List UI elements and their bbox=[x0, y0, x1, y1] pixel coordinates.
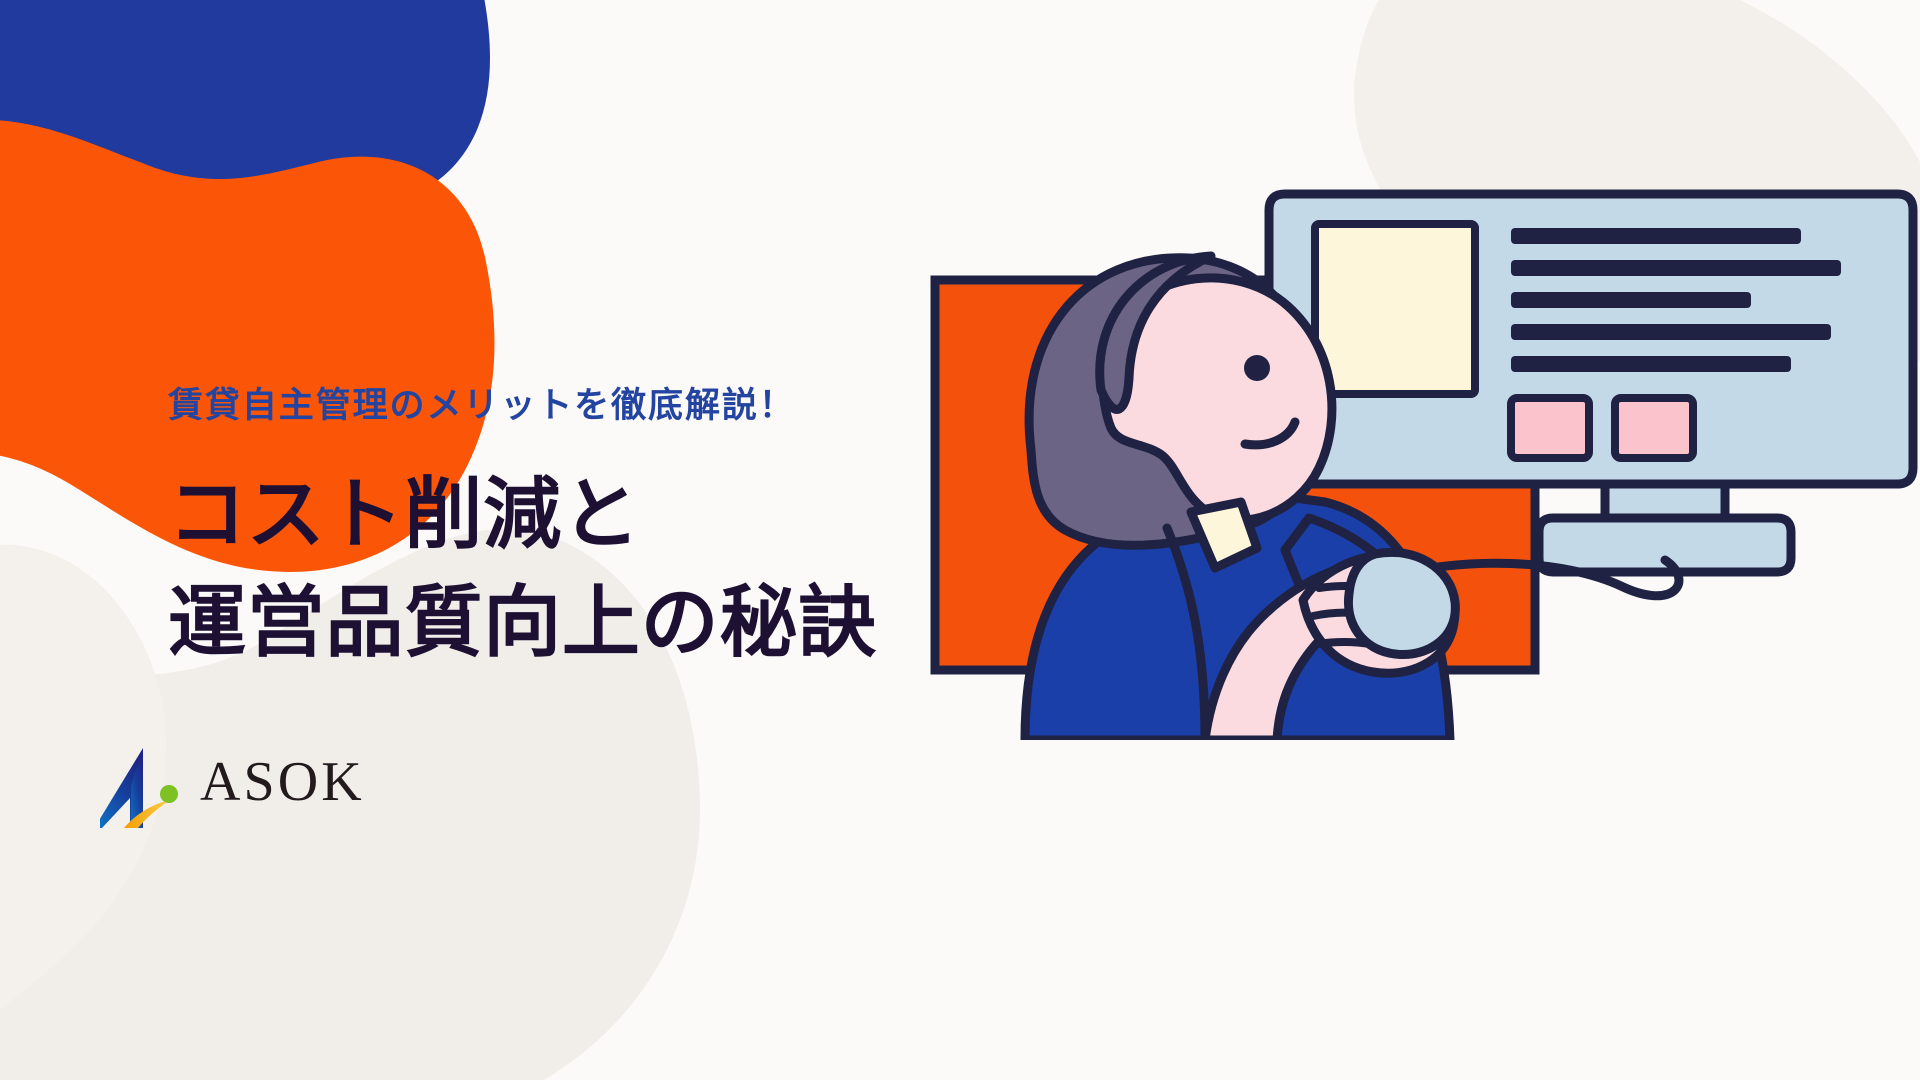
monitor-tile-2 bbox=[1615, 398, 1693, 458]
woman-at-computer-illustration bbox=[905, 150, 1920, 740]
monitor-screen bbox=[1315, 224, 1475, 394]
hero-eyebrow: 賃貸自主管理のメリットを徹底解説！ bbox=[168, 385, 998, 427]
hero-headline: コスト削減と 運営品質向上の秘訣 bbox=[168, 461, 998, 676]
asok-logo-mark bbox=[100, 742, 196, 828]
asok-wordmark: ASOK bbox=[200, 754, 365, 816]
asok-logo[interactable]: ASOK bbox=[100, 742, 365, 828]
hero-headline-line-1: コスト削減と bbox=[168, 461, 998, 569]
hero-banner: 賃貸自主管理のメリットを徹底解説！ コスト削減と 運営品質向上の秘訣 bbox=[0, 0, 1920, 1080]
monitor-tile-1 bbox=[1511, 398, 1589, 458]
hero-copy: 賃貸自主管理のメリットを徹底解説！ コスト削減と 運営品質向上の秘訣 bbox=[168, 385, 998, 676]
hero-headline-line-2: 運営品質向上の秘訣 bbox=[168, 569, 998, 677]
person-eye bbox=[1244, 355, 1270, 381]
computer-mouse bbox=[1348, 552, 1455, 654]
logo-green-dot bbox=[160, 785, 178, 803]
